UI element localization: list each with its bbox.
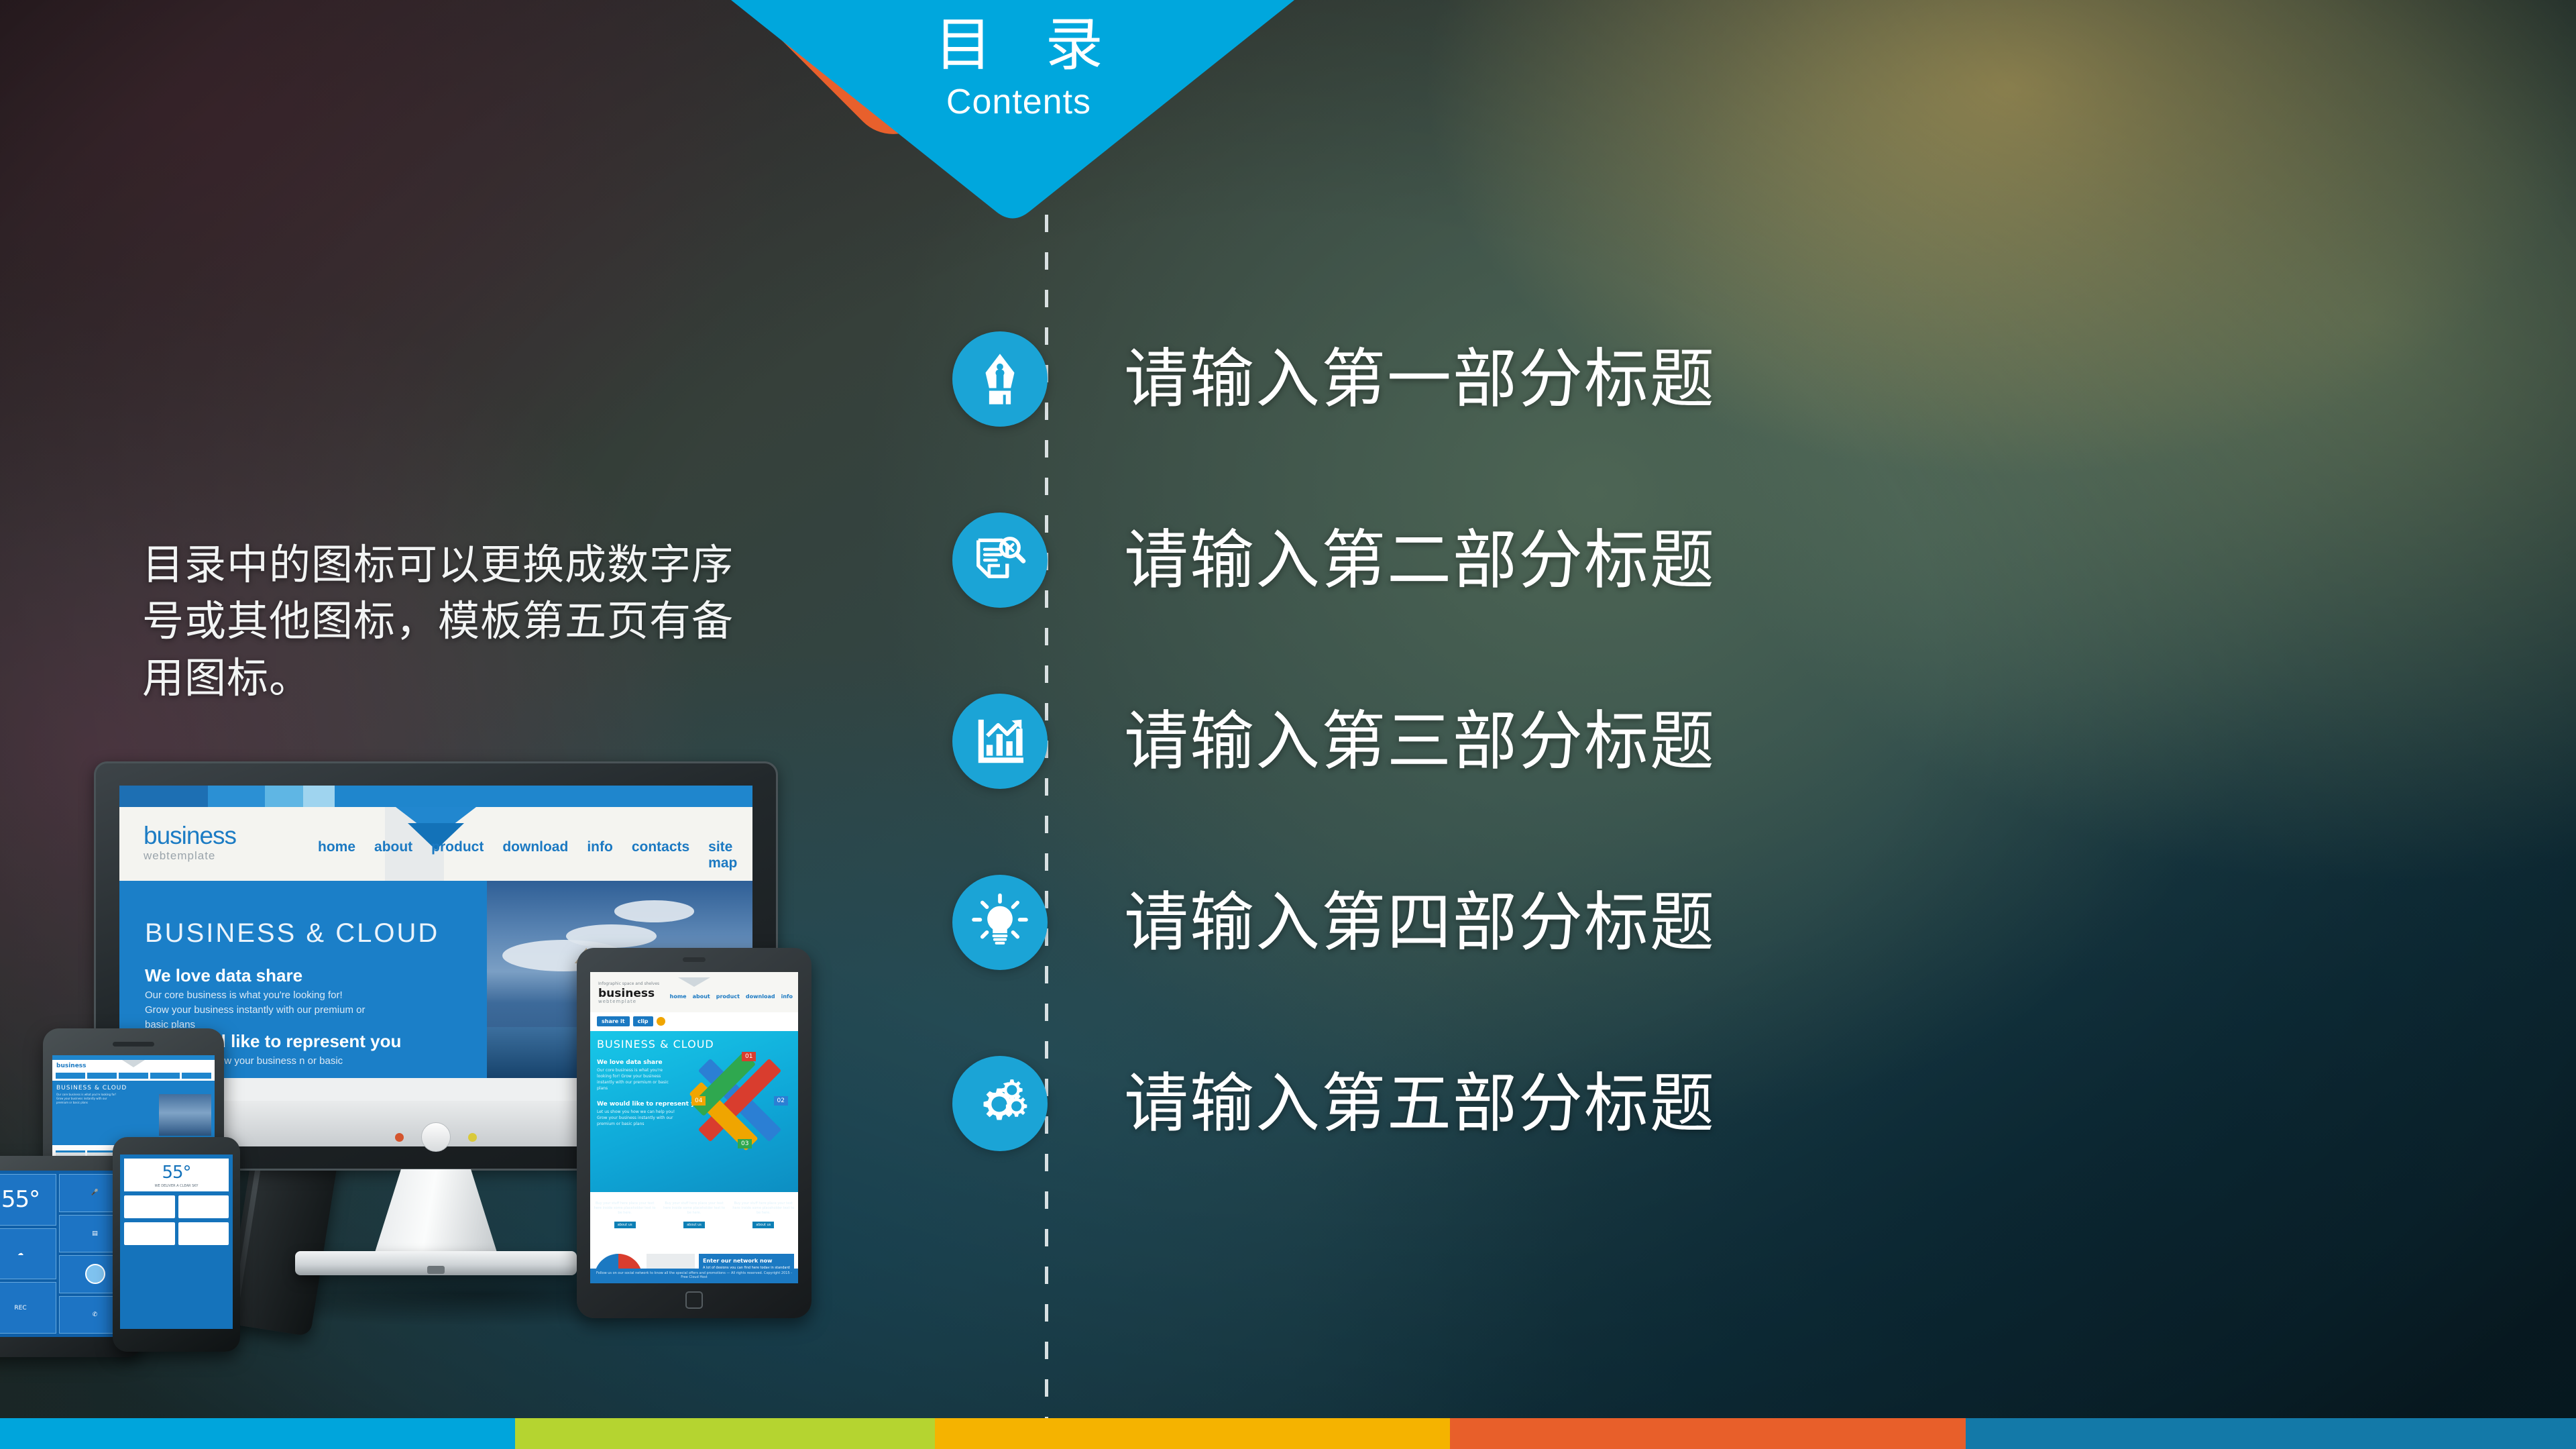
- phone-dark-screen: 55° WE DELIVER A CLEAR SKY: [120, 1155, 233, 1329]
- tablet-site-tagline: Infographic space and shelves: [598, 981, 659, 986]
- site-logo-text: business: [144, 823, 236, 848]
- tablet-device: Infographic space and shelves business w…: [577, 948, 811, 1318]
- bar-chart-growth-icon: [971, 712, 1029, 770]
- site-nav-item-download: download: [502, 839, 568, 871]
- toc-bullet-5[interactable]: [952, 1056, 1048, 1151]
- site-nav-item-sitemap: site map: [708, 839, 752, 871]
- toc-item-5[interactable]: 请输入第五部分标题: [952, 1013, 2495, 1194]
- site-nav-item-contacts: contacts: [632, 839, 689, 871]
- table-of-contents: 请输入第一部分标题 请输入第二部分标题: [952, 288, 2495, 1194]
- toc-bullet-1[interactable]: [952, 331, 1048, 427]
- tablet-hero-heading1: We love data share: [597, 1059, 663, 1066]
- phone-dark: 55° WE DELIVER A CLEAR SKY: [113, 1137, 240, 1352]
- bottom-bar-segment-lime: [515, 1418, 935, 1449]
- site-logo: business webtemplate: [144, 823, 236, 863]
- blue-chevron-shape: [731, 0, 1294, 228]
- toc-label-2: 请输入第二部分标题: [1124, 528, 1716, 592]
- tablet-cta-title: Enter our network now: [703, 1258, 790, 1264]
- toc-bullet-2[interactable]: [952, 513, 1048, 608]
- toc-bullet-3[interactable]: [952, 694, 1048, 789]
- tablet-site-logo-text: business: [598, 987, 655, 1000]
- tablet-camera: [683, 957, 706, 962]
- tablet-hero-body1: Our core business is what you're looking…: [597, 1067, 677, 1091]
- tablet-site-logo-subtext: webtemplate: [598, 1000, 655, 1004]
- tablet-feature-label-ideas: ideas: [729, 1195, 798, 1201]
- bottom-bar-segment-cyan: [0, 1418, 515, 1449]
- toc-item-2[interactable]: 请输入第二部分标题: [952, 470, 2495, 651]
- toc-label-1: 请输入第一部分标题: [1124, 347, 1716, 411]
- monitor-stand-neck: [374, 1169, 498, 1256]
- phone-site-ribbon: [122, 1060, 145, 1067]
- tablet-nav-item-home: home: [670, 994, 687, 1000]
- tablet-tool-badge-icon: [657, 1017, 665, 1026]
- gears-settings-icon: [971, 1075, 1029, 1132]
- toc-item-3[interactable]: 请输入第三部分标题: [952, 651, 2495, 832]
- phone-site-menu: [52, 1073, 215, 1079]
- tablet-feature-body-tablets: Buy your stuff here place your text here…: [659, 1201, 728, 1216]
- tablet-feature-body-ideas: Buy your stuff here place your text here…: [729, 1201, 798, 1216]
- phone-speaker: [113, 1042, 154, 1046]
- monitor-stand-foot: [427, 1266, 445, 1274]
- settings-icon: [178, 1222, 229, 1245]
- tablet-home-button: [685, 1291, 703, 1309]
- site-nav-item-home: home: [318, 839, 355, 871]
- pen-nib-icon: [971, 350, 1029, 408]
- site-section1-heading: We love data share: [145, 965, 302, 986]
- tablet-site-footer: Follow us on our social network to know …: [590, 1269, 798, 1283]
- monitor-led-red: [395, 1133, 404, 1142]
- monitor-power-button: [421, 1122, 451, 1152]
- tablet-nav-item-product: product: [716, 994, 740, 1000]
- tablet-screen: Infographic space and shelves business w…: [590, 972, 798, 1283]
- tablet-x-label-01: 01: [742, 1052, 756, 1061]
- phone-weather-rec-label: REC: [0, 1282, 56, 1334]
- toc-item-4[interactable]: 请输入第四部分标题: [952, 832, 2495, 1013]
- toc-label-4: 请输入第四部分标题: [1124, 890, 1716, 955]
- lightbulb-idea-icon: [971, 894, 1029, 951]
- tablet-feature-shops: shops Buy your stuff here place your tex…: [590, 1195, 659, 1250]
- bottom-color-bar: [0, 1418, 2576, 1449]
- phone-dark-icon-row-2: [124, 1222, 229, 1245]
- phone-hero-body: Our core business is what you're looking…: [52, 1093, 123, 1105]
- mic-icon: [178, 1195, 229, 1218]
- site-nav-item-info: info: [587, 839, 612, 871]
- phone-site-hero: BUSINESS & CLOUD Our core business is wh…: [52, 1081, 215, 1145]
- grid-icon: [124, 1222, 175, 1245]
- tablet-feature-button-shops: about us: [614, 1222, 636, 1228]
- bottom-bar-segment-orange: [1450, 1418, 1965, 1449]
- tablet-site-nav: home about product download info: [670, 994, 793, 1000]
- tablet-x-label-04: 04: [691, 1096, 706, 1106]
- site-top-strip: [119, 786, 752, 807]
- site-logo-subtext: webtemplate: [144, 849, 236, 863]
- tablet-hero-body2: Let us show you how we can help you! Gro…: [597, 1109, 677, 1127]
- toc-bullet-4[interactable]: [952, 875, 1048, 970]
- tablet-feature-icons: shops Buy your stuff here place your tex…: [590, 1195, 798, 1250]
- tablet-site-hero: BUSINESS & CLOUD We love data share Our …: [590, 1031, 798, 1192]
- tablet-x-label-03: 03: [738, 1139, 752, 1148]
- phone-dark-subtext: WE DELIVER A CLEAR SKY: [124, 1184, 229, 1191]
- tablet-tool-share: share it: [597, 1016, 630, 1026]
- tablet-feature-body-shops: Buy your stuff here place your text here…: [590, 1201, 659, 1216]
- tablet-x-label-02: 02: [774, 1096, 788, 1106]
- device-mockup-image: business webtemplate home about product …: [0, 761, 966, 1352]
- bottom-bar-segment-teal: [1966, 1418, 2576, 1449]
- phone-site-topbar: [52, 1055, 215, 1060]
- tablet-tool-clip: clip: [633, 1016, 653, 1026]
- tablet-nav-item-download: download: [746, 994, 775, 1000]
- header-banner: [731, 0, 1294, 228]
- phone-site-logo: business: [56, 1063, 87, 1069]
- phone-weather-temperature: 55°: [0, 1174, 56, 1226]
- phone-hero-title: BUSINESS & CLOUD: [52, 1081, 215, 1093]
- phone-weather-cloud-icon: ☁: [0, 1228, 56, 1280]
- site-nav-item-about: about: [374, 839, 412, 871]
- toc-item-1[interactable]: 请输入第一部分标题: [952, 288, 2495, 470]
- monitor-indicator-lights: [395, 1122, 477, 1152]
- phone-dark-temperature: 55°: [124, 1159, 229, 1184]
- camera-icon: [124, 1195, 175, 1218]
- phone-weather-col-1: 55° ☁ REC: [0, 1174, 56, 1334]
- site-nav: home about product download info contact…: [318, 839, 752, 871]
- tablet-nav-item-about: about: [693, 994, 710, 1000]
- toc-label-5: 请输入第五部分标题: [1124, 1071, 1716, 1136]
- presentation-slide: business webtemplate home about product …: [0, 0, 2576, 1449]
- phone-hero-image: [159, 1094, 211, 1136]
- tablet-feature-label-shops: shops: [590, 1195, 659, 1201]
- tablet-hero-heading2: We would like to represent you: [597, 1101, 703, 1108]
- tablet-site-logo: business webtemplate: [598, 988, 655, 1004]
- monitor-led-yellow: [468, 1133, 477, 1142]
- toc-label-3: 请输入第三部分标题: [1124, 709, 1716, 773]
- tablet-site-ribbon: [678, 977, 710, 987]
- tablet-nav-item-info: info: [781, 994, 793, 1000]
- tablet-hero-x-graphic: 01 02 03 04: [689, 1050, 790, 1150]
- tablet-feature-button-ideas: about us: [752, 1222, 774, 1228]
- tablet-site-tools: share it clip: [597, 1016, 665, 1026]
- bottom-bar-segment-amber: [935, 1418, 1450, 1449]
- tablet-feature-ideas: ideas Buy your stuff here place your tex…: [729, 1195, 798, 1250]
- note-text: 目录中的图标可以更换成数字序号或其他图标，模板第五页有备用图标。: [142, 537, 746, 706]
- tablet-feature-tablets: tablets Buy your stuff here place your t…: [659, 1195, 728, 1250]
- tablet-feature-button-tablets: about us: [683, 1222, 705, 1228]
- site-section1-body: Our core business is what you're looking…: [145, 988, 366, 1032]
- tablet-hero-title: BUSINESS & CLOUD: [597, 1038, 714, 1051]
- site-nav-item-product: product: [431, 839, 484, 871]
- phone-dark-icon-row-1: [124, 1195, 229, 1218]
- tablet-feature-label-tablets: tablets: [659, 1195, 728, 1201]
- document-search-icon: [971, 531, 1029, 589]
- site-hero-title: BUSINESS & CLOUD: [145, 918, 439, 949]
